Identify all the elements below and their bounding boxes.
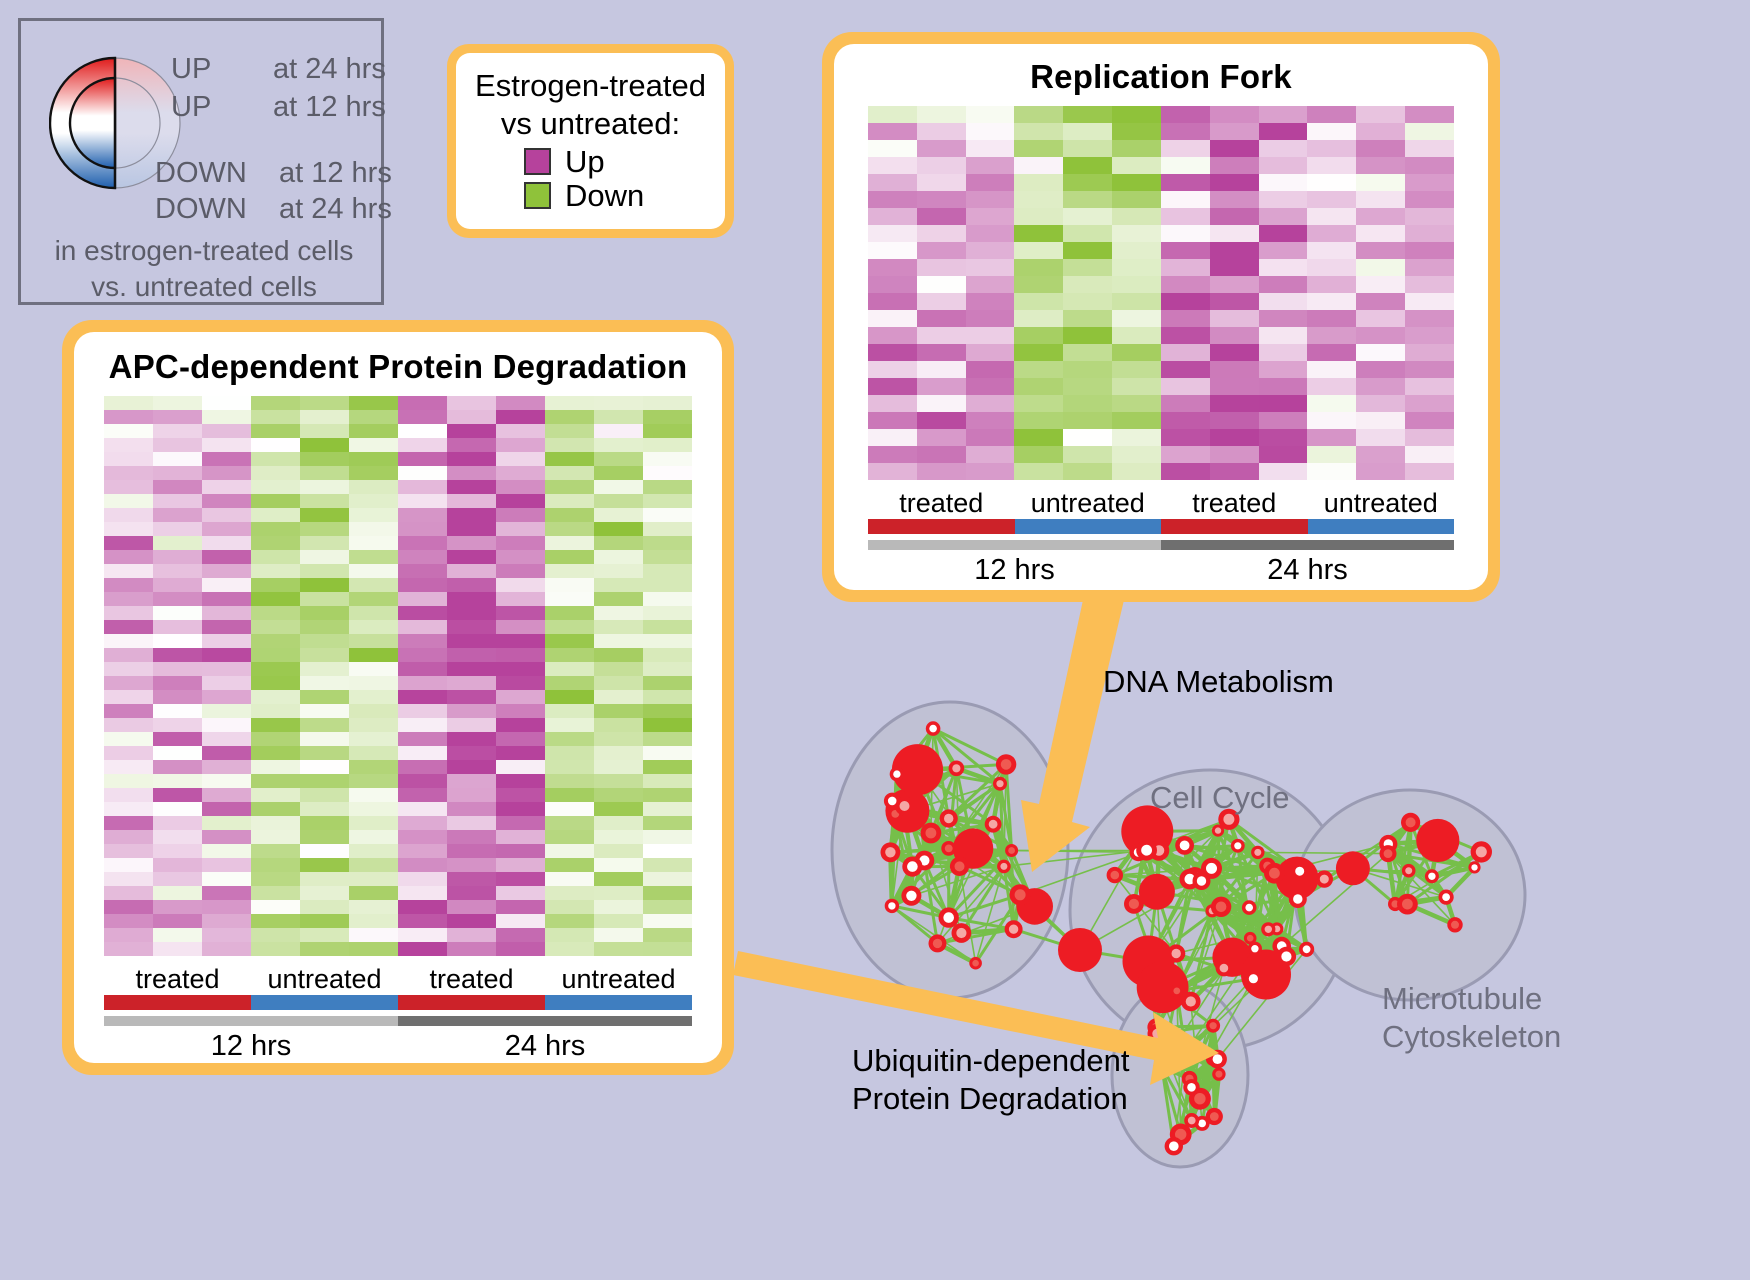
wheel-direction-0: UP: [171, 53, 211, 86]
apc-condition-bars: [104, 995, 692, 1010]
replication-condition-1: untreated: [1015, 488, 1162, 519]
apc-condition-0: treated: [104, 964, 251, 995]
replication-condition-labels: treated untreated treated untreated: [868, 488, 1454, 519]
panel-apc-degradation: APC-dependent Protein Degradation treate…: [62, 320, 734, 1075]
apc-time-1: 24 hrs: [398, 1030, 692, 1063]
legend-title-line1: Estrogen-treated: [475, 68, 706, 103]
apc-condition-labels: treated untreated treated untreated: [104, 964, 692, 995]
cluster-label-ubiquitin-degradation: Ubiquitin-dependent Protein Degradation: [852, 1042, 1130, 1118]
up-down-legend: Estrogen-treated vs untreated: Up Down: [447, 44, 734, 238]
wheel-time-0: at 24 hrs: [273, 53, 386, 86]
apc-panel-title: APC-dependent Protein Degradation: [74, 332, 722, 386]
wheel-time-3: at 24 hrs: [279, 193, 392, 226]
replication-condition-3: untreated: [1308, 488, 1455, 519]
replication-condition-2: treated: [1161, 488, 1308, 519]
cluster-label-cell-cycle: Cell Cycle: [1150, 780, 1290, 816]
color-wheel-legend: UP at 24 hrs UP at 12 hrs DOWN at 12 hrs…: [18, 18, 384, 305]
callout-arrows: [790, 1180, 940, 1266]
legend-item-down: Down: [524, 180, 713, 211]
network-diagram: [790, 620, 1750, 1280]
legend-item-up: Up: [524, 146, 713, 177]
wheel-caption: in estrogen-treated cells vs. untreated …: [21, 233, 387, 305]
apc-condition-1: untreated: [251, 964, 398, 995]
wheel-time-1: at 12 hrs: [273, 91, 386, 124]
replication-time-1: 24 hrs: [1161, 554, 1454, 587]
wheel-time-2: at 12 hrs: [279, 157, 392, 190]
apc-condition-3: untreated: [545, 964, 692, 995]
apc-condition-2: treated: [398, 964, 545, 995]
replication-time-labels: 12 hrs 24 hrs: [868, 554, 1454, 587]
down-label: Down: [565, 180, 644, 211]
panel-replication-fork: Replication Fork treated untreated treat…: [822, 32, 1500, 602]
legend-title-line2: vs untreated:: [501, 106, 680, 141]
wheel-caption-line1: in estrogen-treated cells: [55, 235, 354, 266]
wheel-direction-1: UP: [171, 91, 211, 124]
apc-time-labels: 12 hrs 24 hrs: [104, 1030, 692, 1063]
wheel-direction-2: DOWN: [155, 157, 247, 190]
replication-panel-title: Replication Fork: [834, 44, 1488, 96]
replication-condition-bars: [868, 519, 1454, 534]
replication-time-0: 12 hrs: [868, 554, 1161, 587]
down-swatch-icon: [524, 182, 551, 209]
figure-root: UP at 24 hrs UP at 12 hrs DOWN at 12 hrs…: [0, 0, 1750, 1279]
cluster-label-microtubule-cytoskeleton: Microtubule Cytoskeleton: [1382, 980, 1561, 1056]
up-label: Up: [565, 146, 605, 177]
wheel-caption-line2: vs. untreated cells: [91, 271, 317, 302]
apc-time-0: 12 hrs: [104, 1030, 398, 1063]
replication-heatmap: [868, 106, 1454, 480]
apc-time-bars: [104, 1016, 692, 1026]
cluster-label-dna-metabolism: DNA Metabolism: [1103, 664, 1334, 700]
wheel-direction-3: DOWN: [155, 193, 247, 226]
up-down-legend-title: Estrogen-treated vs untreated:: [468, 67, 713, 143]
apc-heatmap: [104, 396, 692, 956]
replication-condition-0: treated: [868, 488, 1015, 519]
up-swatch-icon: [524, 148, 551, 175]
replication-time-bars: [868, 540, 1454, 550]
